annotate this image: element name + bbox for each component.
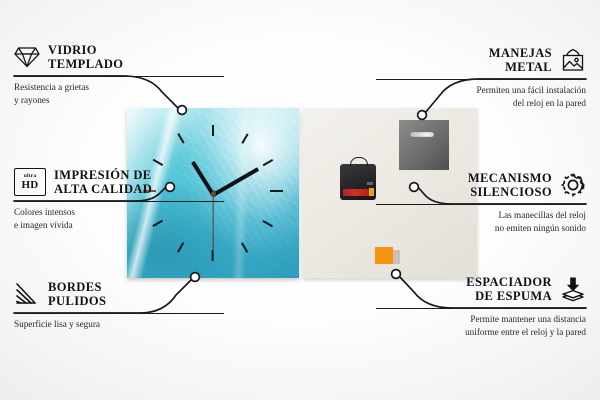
polished-edges-icon — [14, 281, 40, 307]
gear-icon — [560, 172, 586, 198]
feature-title: VIDRIO TEMPLADO — [48, 43, 123, 71]
metal-hanger-plate — [399, 120, 449, 170]
feature-title: MECANISMO SILENCIOSO — [468, 171, 552, 199]
feature-header: BORDES PULIDOS — [14, 277, 224, 311]
clock-tick — [270, 190, 283, 192]
feature-bordes-pulidos: BORDES PULIDOS Superficie lisa y segura — [14, 277, 224, 331]
feature-espaciador-espuma: ESPACIADOR DE ESPUMA Permite mantener un… — [376, 272, 586, 338]
hanger-slot — [410, 132, 434, 137]
feature-title: ESPACIADOR DE ESPUMA — [466, 275, 552, 303]
feature-divider — [376, 204, 586, 205]
feature-subtitle: Superficie lisa y segura — [14, 318, 224, 330]
picture-hanger-icon — [560, 47, 586, 73]
feature-title: MANEJAS METAL — [489, 46, 552, 74]
clock-mechanism-housing — [340, 164, 376, 200]
clock-tick — [212, 125, 214, 136]
foam-spacer-shadow — [393, 250, 400, 264]
foam-spacer-icon — [560, 276, 586, 302]
feature-mecanismo-silencioso: MECANISMO SILENCIOSO Las manecillas del … — [376, 168, 586, 234]
feature-divider — [14, 76, 224, 77]
feature-header: ultra HD IMPRESIÓN DE ALTA CALIDAD — [14, 165, 224, 199]
foam-spacer-pad — [375, 247, 393, 264]
mechanism-hanging-loop — [350, 157, 368, 167]
feature-subtitle: Colores intensos e imagen vívida — [14, 206, 224, 230]
feature-divider — [376, 79, 586, 80]
feature-divider — [14, 201, 224, 202]
infographic-canvas: VIDRIO TEMPLADO Resistencia a grietas y … — [0, 0, 600, 400]
ultra-hd-icon: ultra HD — [14, 168, 46, 196]
battery-terminal — [369, 188, 374, 196]
feature-vidrio-templado: VIDRIO TEMPLADO Resistencia a grietas y … — [14, 40, 224, 106]
feature-subtitle: Permite mantener una distancia uniforme … — [376, 313, 586, 337]
feature-subtitle: Las manecillas del reloj no emiten ningú… — [376, 209, 586, 233]
feature-manejas-metal: MANEJAS METAL Permiten una fácil instala… — [376, 43, 586, 109]
ultra-hd-icon-hd-label: HD — [21, 180, 38, 191]
feature-impresion-alta-calidad: ultra HD IMPRESIÓN DE ALTA CALIDAD Color… — [14, 165, 224, 231]
feature-title: IMPRESIÓN DE ALTA CALIDAD — [54, 168, 152, 196]
feature-header: MANEJAS METAL — [376, 43, 586, 77]
feature-header: ESPACIADOR DE ESPUMA — [376, 272, 586, 306]
feature-title: BORDES PULIDOS — [48, 280, 106, 308]
feature-subtitle: Permiten una fácil instalación del reloj… — [376, 84, 586, 108]
diamond-icon — [14, 44, 40, 70]
feature-divider — [376, 308, 586, 309]
feature-header: VIDRIO TEMPLADO — [14, 40, 224, 74]
feature-divider — [14, 313, 224, 314]
mechanism-label — [367, 182, 373, 185]
feature-header: MECANISMO SILENCIOSO — [376, 168, 586, 202]
feature-subtitle: Resistencia a grietas y rayones — [14, 81, 224, 105]
